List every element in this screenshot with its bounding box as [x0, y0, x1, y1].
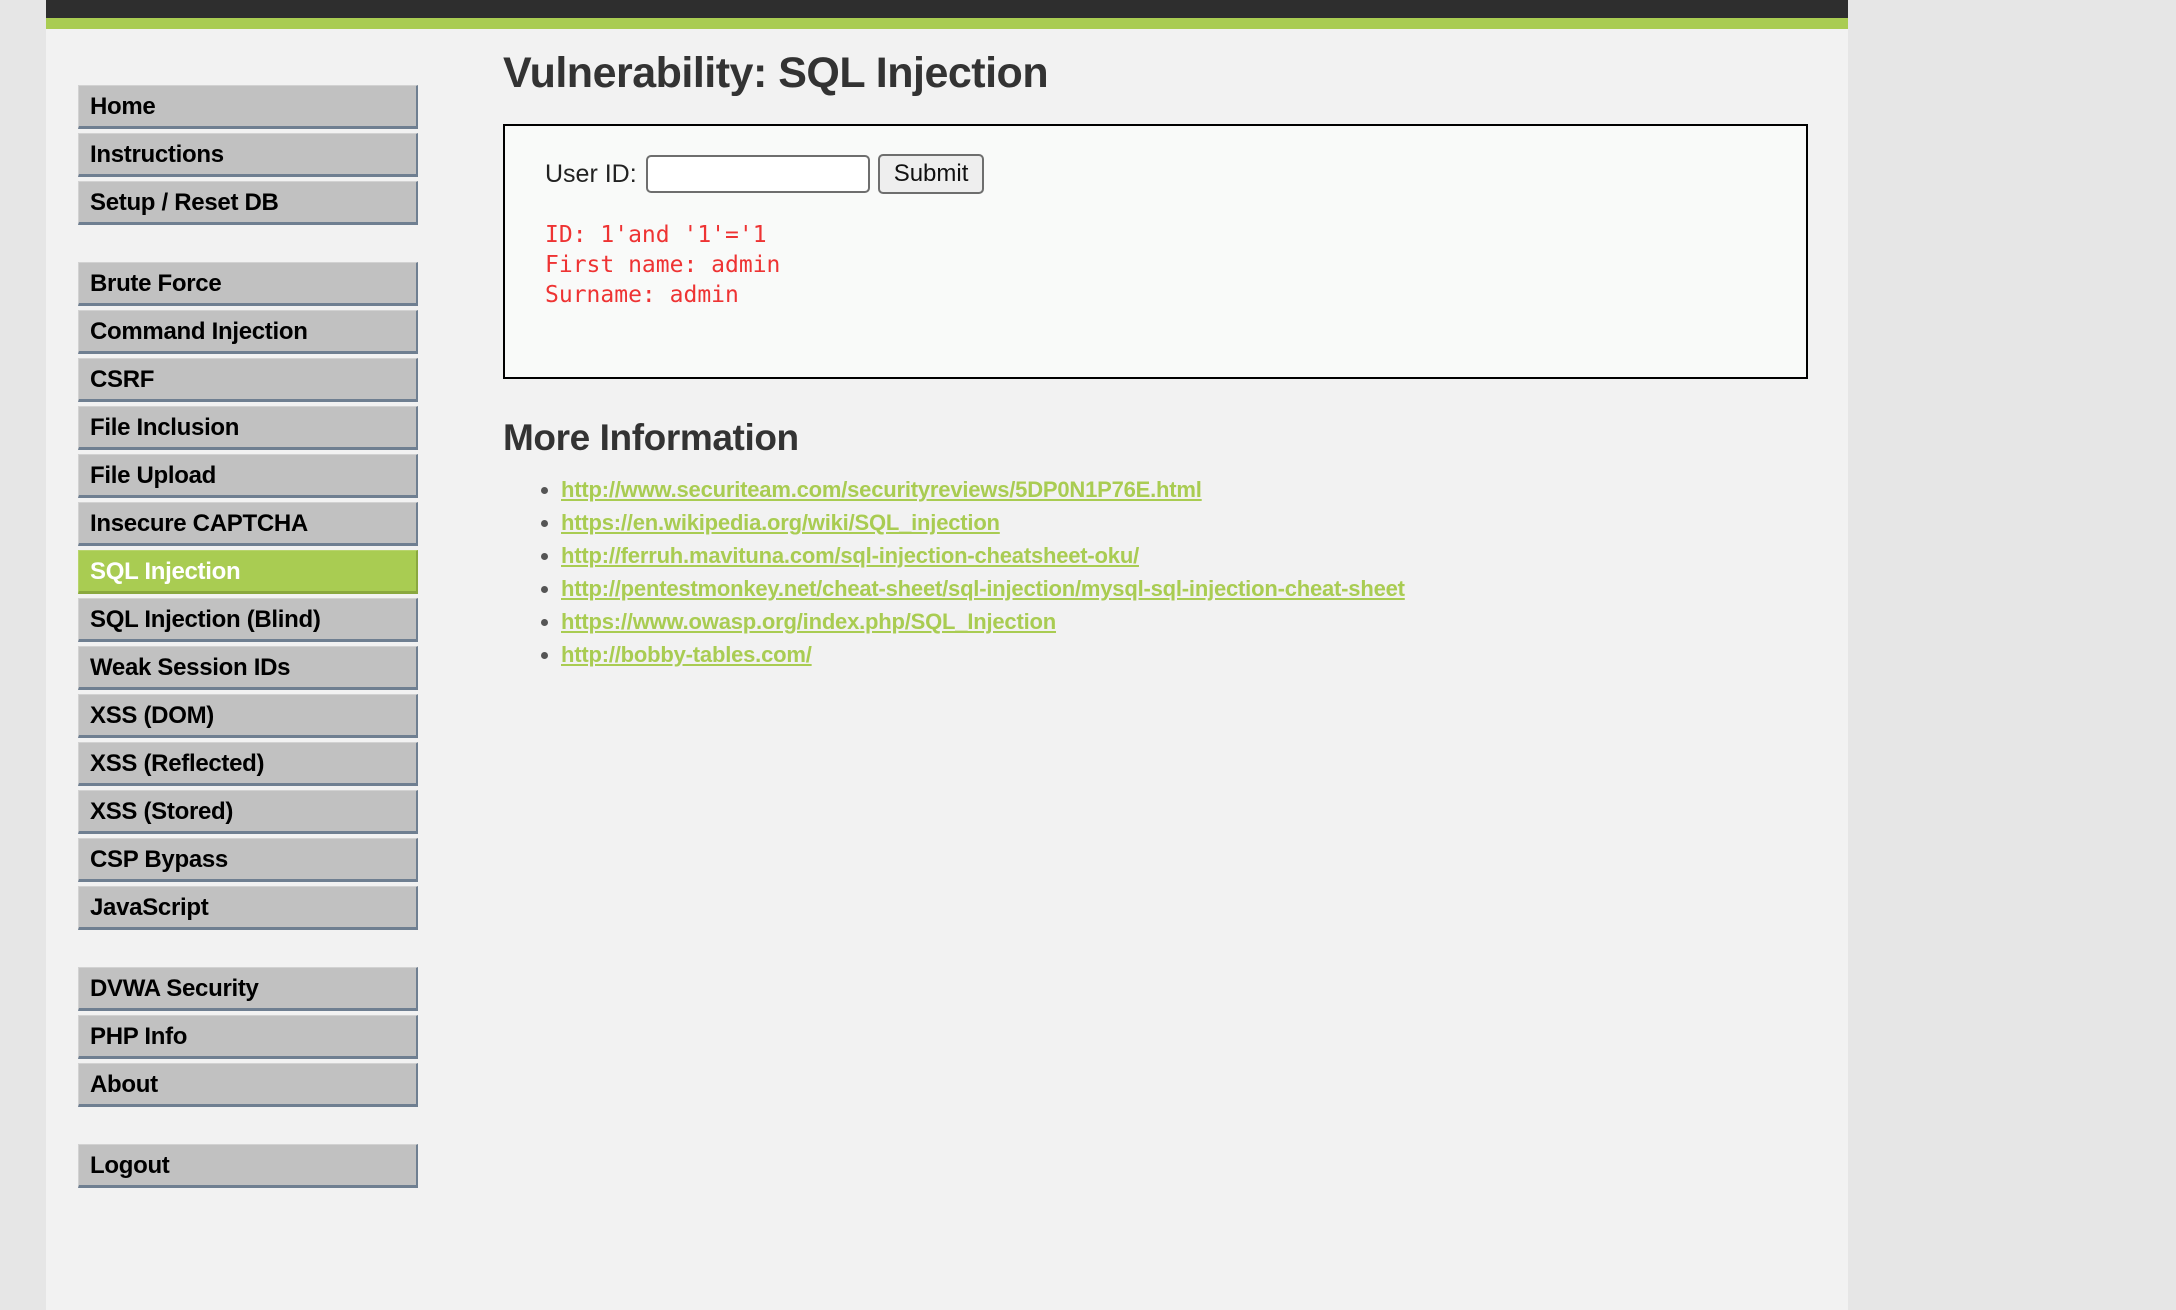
list-item: http://bobby-tables.com/ [561, 642, 1813, 668]
sidebar-item-csp-bypass[interactable]: CSP Bypass [78, 838, 418, 882]
list-item: http://www.securiteam.com/securityreview… [561, 477, 1813, 503]
list-item: http://pentestmonkey.net/cheat-sheet/sql… [561, 576, 1813, 602]
sidebar-item-xss-stored[interactable]: XSS (Stored) [78, 790, 418, 834]
body-area: HomeInstructionsSetup / Reset DBBrute Fo… [46, 29, 1848, 1310]
sidebar-group-separator [78, 1111, 418, 1144]
sidebar-item-sql-injection-blind[interactable]: SQL Injection (Blind) [78, 598, 418, 642]
query-result-output: ID: 1'and '1'='1First name: adminSurname… [545, 220, 1806, 310]
sidebar-item-brute-force[interactable]: Brute Force [78, 262, 418, 306]
user-id-input[interactable] [646, 155, 870, 193]
green-accent-stripe [46, 18, 1848, 29]
user-id-form: User ID: Submit [545, 154, 1806, 194]
more-information-link[interactable]: http://ferruh.mavituna.com/sql-injection… [561, 543, 1139, 568]
sidebar-item-insecure-captcha[interactable]: Insecure CAPTCHA [78, 502, 418, 546]
sidebar-item-xss-dom[interactable]: XSS (DOM) [78, 694, 418, 738]
more-information-link-list: http://www.securiteam.com/securityreview… [503, 477, 1813, 668]
result-line: First name: admin [545, 250, 1806, 280]
sidebar-item-logout[interactable]: Logout [78, 1144, 418, 1188]
submit-button[interactable]: Submit [878, 154, 985, 194]
sidebar-item-setup-reset-db[interactable]: Setup / Reset DB [78, 181, 418, 225]
more-information-heading: More Information [503, 417, 1813, 459]
sidebar-item-php-info[interactable]: PHP Info [78, 1015, 418, 1059]
sidebar-item-file-inclusion[interactable]: File Inclusion [78, 406, 418, 450]
list-item: http://ferruh.mavituna.com/sql-injection… [561, 543, 1813, 569]
top-dark-header-bar [46, 0, 1848, 18]
main-navigation-sidebar: HomeInstructionsSetup / Reset DBBrute Fo… [78, 85, 418, 1192]
list-item: https://www.owasp.org/index.php/SQL_Inje… [561, 609, 1813, 635]
sidebar-item-dvwa-security[interactable]: DVWA Security [78, 967, 418, 1011]
user-id-label: User ID: [545, 160, 637, 189]
page-title: Vulnerability: SQL Injection [503, 49, 1813, 98]
result-line: ID: 1'and '1'='1 [545, 220, 1806, 250]
more-information-link[interactable]: https://en.wikipedia.org/wiki/SQL_inject… [561, 510, 1000, 535]
page-wrapper: HomeInstructionsSetup / Reset DBBrute Fo… [46, 0, 1848, 1310]
sidebar-item-sql-injection[interactable]: SQL Injection [78, 550, 418, 594]
vulnerability-panel: User ID: Submit ID: 1'and '1'='1First na… [503, 124, 1808, 379]
sidebar-item-home[interactable]: Home [78, 85, 418, 129]
sidebar-group-separator [78, 229, 418, 262]
sidebar-item-xss-reflected[interactable]: XSS (Reflected) [78, 742, 418, 786]
more-information-link[interactable]: https://www.owasp.org/index.php/SQL_Inje… [561, 609, 1056, 634]
list-item: https://en.wikipedia.org/wiki/SQL_inject… [561, 510, 1813, 536]
result-line: Surname: admin [545, 280, 1806, 310]
sidebar-item-csrf[interactable]: CSRF [78, 358, 418, 402]
main-content: Vulnerability: SQL Injection User ID: Su… [503, 49, 1813, 675]
sidebar-item-instructions[interactable]: Instructions [78, 133, 418, 177]
sidebar-item-weak-session-ids[interactable]: Weak Session IDs [78, 646, 418, 690]
sidebar-item-javascript[interactable]: JavaScript [78, 886, 418, 930]
sidebar-item-command-injection[interactable]: Command Injection [78, 310, 418, 354]
sidebar-group-separator [78, 934, 418, 967]
more-information-link[interactable]: http://pentestmonkey.net/cheat-sheet/sql… [561, 576, 1405, 601]
sidebar-item-about[interactable]: About [78, 1063, 418, 1107]
more-information-link[interactable]: http://bobby-tables.com/ [561, 642, 812, 667]
more-information-link[interactable]: http://www.securiteam.com/securityreview… [561, 477, 1202, 502]
sidebar-item-file-upload[interactable]: File Upload [78, 454, 418, 498]
